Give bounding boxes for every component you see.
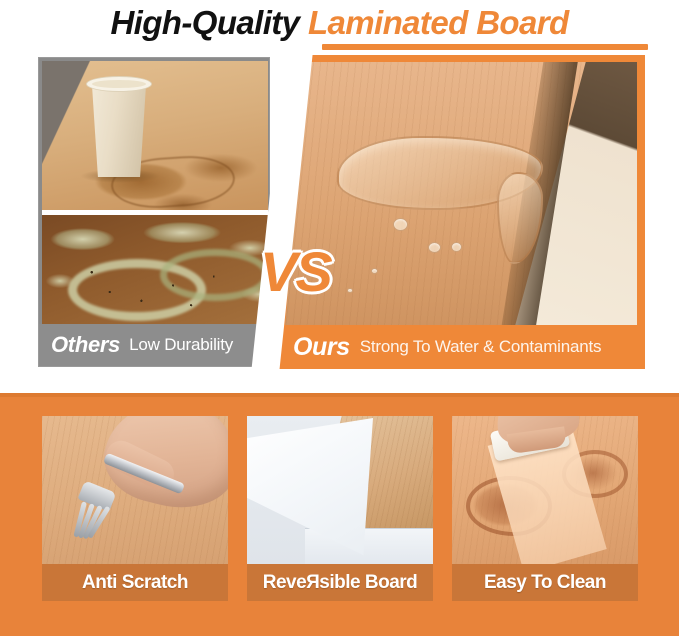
feature-caption-label: Anti Scratch: [82, 572, 188, 594]
feature-caption-label: Easy To Clean: [484, 572, 606, 594]
mold-damage-photo: [42, 215, 268, 325]
feature-caption-bar: Easy To Clean: [452, 564, 638, 601]
paper-cup-spill-photo: [42, 61, 268, 211]
headline-part-2: Laminated Board: [308, 4, 569, 41]
headline-part-1: High-Quality: [110, 4, 308, 41]
ours-caption: Strong To Water & Contaminants: [360, 337, 602, 357]
paper-cup-icon: [88, 81, 150, 177]
fork-scratch-photo: [42, 416, 228, 564]
reversible-board-photo: [247, 416, 433, 564]
feature-card-reversible-board: ReveЯsible Board: [247, 416, 433, 601]
cup-rim: [86, 76, 152, 92]
others-caption-bar: Others Low Durability: [39, 324, 270, 366]
feature-caption-bar: ReveЯsible Board: [247, 564, 433, 601]
ours-label: Ours: [293, 333, 350, 362]
others-caption: Low Durability: [129, 335, 233, 355]
others-label: Others: [51, 332, 120, 358]
mold-specks: [42, 215, 268, 325]
water-droplet: [393, 218, 408, 231]
water-droplet: [371, 268, 378, 274]
feature-caption-bar: Anti Scratch: [42, 564, 228, 601]
feature-caption-label: ReveЯsible Board: [263, 572, 418, 594]
feature-card-list: Anti Scratch ReveЯsible Board: [42, 416, 638, 601]
comparison-section: Others Low Durability Ours Strong To Wat…: [0, 55, 679, 370]
water-droplet: [428, 242, 441, 253]
ours-caption-bar: Ours Strong To Water & Contaminants: [277, 325, 645, 369]
features-section: Anti Scratch ReveЯsible Board: [0, 393, 679, 636]
feature-card-easy-to-clean: Easy To Clean: [452, 416, 638, 601]
wipe-clean-photo: [452, 416, 638, 564]
others-panel: Others Low Durability: [38, 57, 270, 367]
vs-badge: VS: [260, 241, 370, 303]
ours-panel: Ours Strong To Water & Contaminants: [277, 55, 645, 369]
title-underline-bar: [322, 44, 648, 50]
water-droplet: [451, 242, 462, 252]
headline-text: High-Quality Laminated Board: [110, 0, 568, 39]
feature-card-anti-scratch: Anti Scratch: [42, 416, 228, 601]
